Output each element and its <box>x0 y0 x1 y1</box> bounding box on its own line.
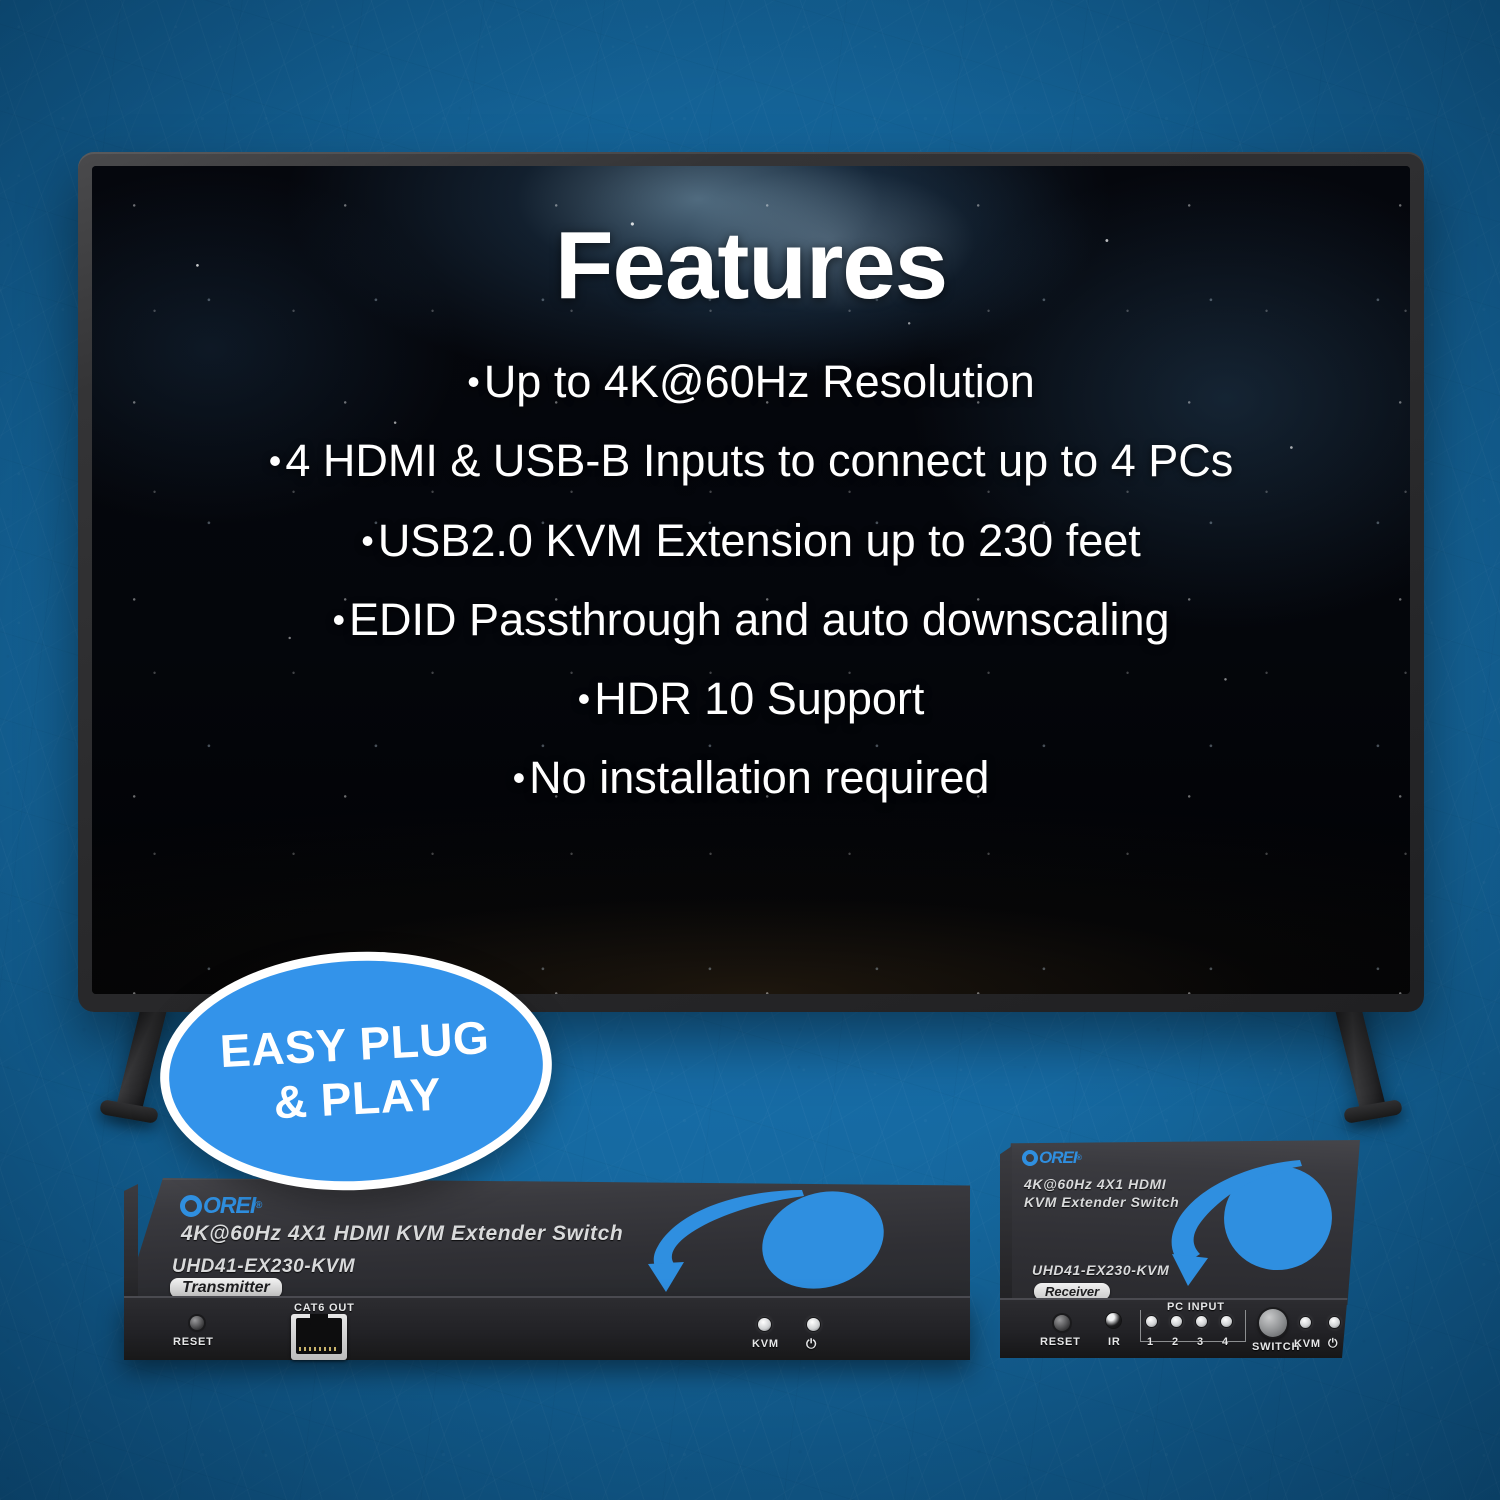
pc-input-led-4 <box>1221 1316 1232 1327</box>
bullet-icon: • <box>269 440 282 481</box>
cat6-out-port[interactable] <box>291 1314 347 1360</box>
feature-text: HDR 10 Support <box>594 673 924 724</box>
pc-input-number-2: 2 <box>1172 1336 1179 1348</box>
power-icon-receiver: ⏻ <box>1328 1336 1338 1351</box>
badge-line-1: EASY PLUG <box>219 1010 491 1078</box>
pc-input-number-4: 4 <box>1222 1336 1229 1348</box>
product-feature-graphic: Features •Up to 4K@60Hz Resolution •4 HD… <box>0 0 1500 1500</box>
swoosh-icon <box>640 1184 910 1302</box>
receiver-role-badge: Receiver <box>1034 1283 1110 1300</box>
reset-button-receiver[interactable] <box>1054 1315 1070 1331</box>
kvm-led-label-transmitter: KVM <box>752 1338 779 1350</box>
rj45-tab <box>310 1314 328 1325</box>
transmitter-role-badge: Transmitter <box>170 1278 282 1298</box>
receiver-front-panel: RESET IR PC INPUT 1 2 3 4 SWITCH KVM ⏻ <box>1000 1298 1360 1358</box>
tv-screen: Features •Up to 4K@60Hz Resolution •4 HD… <box>92 166 1410 994</box>
reset-label-transmitter: RESET <box>173 1336 214 1348</box>
feature-item: •Up to 4K@60Hz Resolution <box>120 358 1382 405</box>
features-title: Features <box>555 218 947 314</box>
bullet-icon: • <box>361 520 374 561</box>
receiver-device: OREI® 4K@60Hz 4X1 HDMI KVM Extender Swit… <box>1000 1140 1360 1362</box>
orei-swoosh-graphic-receiver <box>1152 1154 1338 1290</box>
transmitter-front-panel: RESET CAT6 OUT KVM ⏻ <box>124 1296 970 1360</box>
swoosh-icon <box>1152 1154 1338 1290</box>
ir-label: IR <box>1108 1336 1121 1348</box>
switch-label: SWITCH <box>1252 1341 1300 1353</box>
feature-item: •EDID Passthrough and auto downscaling <box>120 596 1382 643</box>
pc-input-led-1 <box>1146 1316 1157 1327</box>
bullet-icon: • <box>467 361 480 402</box>
feature-list: •Up to 4K@60Hz Resolution •4 HDMI & USB-… <box>92 358 1410 834</box>
pc-input-number-3: 3 <box>1197 1336 1204 1348</box>
rj45-pins <box>299 1347 339 1351</box>
cat6-out-label: CAT6 OUT <box>294 1302 355 1314</box>
orei-wordmark: OREI <box>203 1192 255 1219</box>
pc-input-led-3 <box>1196 1316 1207 1327</box>
feature-item: •4 HDMI & USB-B Inputs to connect up to … <box>120 437 1382 484</box>
reset-button-transmitter[interactable] <box>190 1316 204 1330</box>
feature-item: •USB2.0 KVM Extension up to 230 feet <box>120 517 1382 564</box>
power-led-transmitter <box>807 1318 820 1331</box>
orei-wordmark: OREI <box>1039 1148 1077 1168</box>
bullet-icon: • <box>332 599 345 640</box>
orei-swoosh-graphic-transmitter <box>640 1184 910 1302</box>
bullet-icon: • <box>513 757 526 798</box>
feature-item: •HDR 10 Support <box>120 675 1382 722</box>
feature-text: EDID Passthrough and auto downscaling <box>349 594 1170 645</box>
receiver-title-line1: 4K@60Hz 4X1 HDMI <box>1024 1176 1166 1192</box>
orei-o-icon <box>1022 1150 1038 1166</box>
screen-content: Features •Up to 4K@60Hz Resolution •4 HD… <box>92 166 1410 994</box>
orei-logo-transmitter: OREI® <box>180 1192 261 1219</box>
transmitter-title: 4K@60Hz 4X1 HDMI KVM Extender Switch <box>181 1222 623 1246</box>
kvm-led-receiver <box>1300 1317 1311 1328</box>
orei-o-icon <box>180 1195 202 1217</box>
reset-label-receiver: RESET <box>1040 1336 1081 1348</box>
pc-input-bracket <box>1140 1310 1246 1342</box>
receiver-model: UHD41-EX230-KVM <box>1032 1262 1169 1278</box>
power-icon-transmitter: ⏻ <box>806 1336 817 1352</box>
pc-input-led-2 <box>1171 1316 1182 1327</box>
transmitter-device: OREI® 4K@60Hz 4X1 HDMI KVM Extender Swit… <box>124 1178 970 1363</box>
registered-icon: ® <box>1077 1154 1081 1162</box>
transmitter-model: UHD41-EX230-KVM <box>172 1256 355 1278</box>
badge-line-2: & PLAY <box>272 1067 442 1130</box>
switch-button[interactable] <box>1259 1309 1287 1337</box>
kvm-led-transmitter <box>758 1318 771 1331</box>
orei-logo-receiver: OREI® <box>1022 1148 1081 1168</box>
feature-text: Up to 4K@60Hz Resolution <box>484 356 1035 407</box>
feature-text: USB2.0 KVM Extension up to 230 feet <box>378 515 1141 566</box>
television: Features •Up to 4K@60Hz Resolution •4 HD… <box>78 152 1424 1012</box>
bullet-icon: • <box>578 678 591 719</box>
power-led-receiver <box>1329 1317 1340 1328</box>
pc-input-number-1: 1 <box>1147 1336 1154 1348</box>
feature-text: 4 HDMI & USB-B Inputs to connect up to 4… <box>285 435 1233 486</box>
registered-icon: ® <box>255 1200 261 1211</box>
feature-item: •No installation required <box>120 754 1382 801</box>
kvm-led-label-receiver: KVM <box>1294 1338 1321 1350</box>
feature-text: No installation required <box>529 752 989 803</box>
ir-sensor <box>1106 1313 1121 1328</box>
